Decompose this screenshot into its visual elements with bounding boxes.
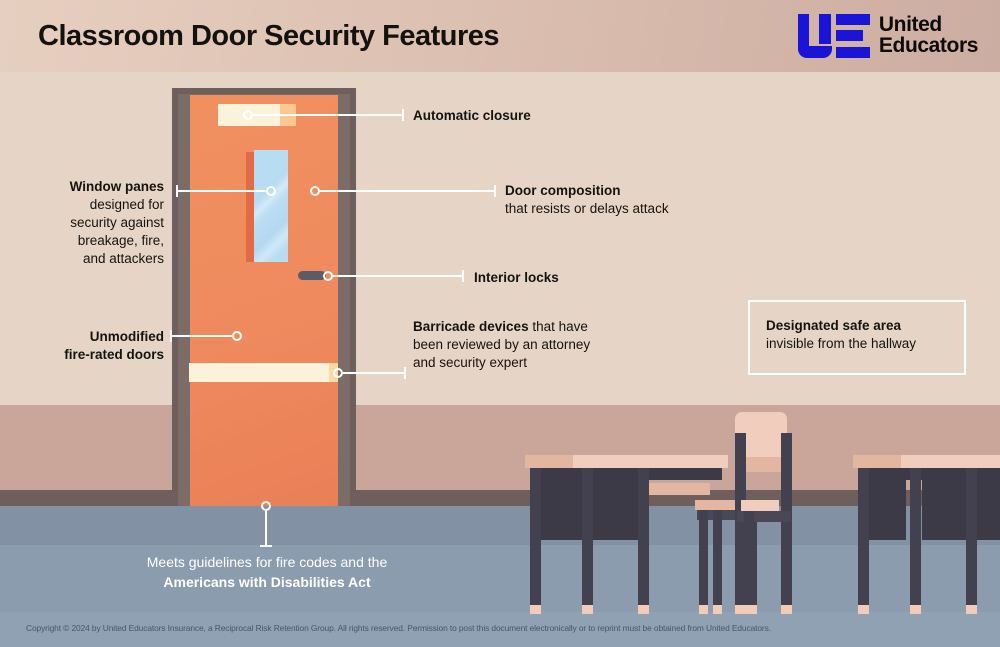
designated-safe-area-body: invisible from the hallway <box>766 336 916 351</box>
desk-left-leg-1 <box>530 468 541 605</box>
floor-note-line-2: Americans with Disabilities Act <box>163 574 370 590</box>
floor-note-line-1: Meets guidelines for fire codes and the <box>147 554 387 570</box>
chair-main-foot-3 <box>781 605 792 614</box>
logo-letter-e <box>836 14 870 58</box>
callout-barricade-devices-line-3: and security expert <box>413 355 527 370</box>
desk-right-leg-1 <box>858 468 869 605</box>
window-pane <box>254 150 288 262</box>
callout-unmodified-doors-line-2: fire-rated doors <box>64 347 164 362</box>
desk-right-foot-2 <box>910 605 921 614</box>
desk-left-foot-3 <box>638 605 649 614</box>
callout-window-panes-line-3: breakage, fire, <box>78 233 164 248</box>
desk-left-top <box>573 455 728 468</box>
callout-door-composition-body: that resists or delays attack <box>505 201 669 216</box>
desk-right-foot-3 <box>966 605 977 614</box>
logo-letter-u-base <box>798 46 832 58</box>
leader-line-floor-note <box>265 511 267 546</box>
chair-small-leg-1 <box>699 510 708 605</box>
desk-right-top-edge <box>853 455 901 468</box>
leader-line-barricade <box>343 372 405 374</box>
callout-barricade-devices-line-2: been reviewed by an attorney <box>413 337 590 352</box>
callout-window-panes-title: Window panes <box>70 179 164 194</box>
designated-safe-area-text: Designated safe area invisible from the … <box>766 317 916 353</box>
desk-right-apron <box>858 468 1000 480</box>
callout-interior-locks: Interior locks <box>474 269 559 287</box>
desk-right-panel <box>868 480 906 540</box>
chair-small-seat-edge <box>695 500 739 510</box>
leader-line-window-panes <box>178 190 268 192</box>
leader-line-automatic-closure <box>253 114 403 116</box>
chair-small-foot-2 <box>713 605 722 614</box>
leader-dot-interior-locks <box>323 271 333 281</box>
leader-cap-window-panes <box>176 185 178 197</box>
logo-wordmark-line-1: United <box>879 15 978 36</box>
header-bar: Classroom Door Security Features United … <box>0 0 1000 72</box>
desk-right-leg-3 <box>966 468 977 605</box>
callout-unmodified-doors-line-1: Unmodified <box>90 329 164 344</box>
chair-small-foot-1 <box>699 605 708 614</box>
leader-line-interior-locks <box>333 275 463 277</box>
desk-left-panel-2 <box>592 480 642 540</box>
copyright-notice: Copyright © 2024 by United Educators Ins… <box>26 623 771 633</box>
desk-left-foot-1 <box>530 605 541 614</box>
callout-window-panes-line-2: security against <box>70 215 164 230</box>
callout-window-panes-line-1: designed for <box>90 197 164 212</box>
infographic-canvas: Automatic closure Window panes designed … <box>0 0 1000 647</box>
floor-note: Meets guidelines for fire codes and the … <box>86 553 448 593</box>
leader-cap-automatic-closure <box>402 109 404 121</box>
desk-left-apron <box>530 468 722 480</box>
callout-barricade-devices: Barricade devices that have been reviewe… <box>413 318 590 372</box>
interior-lock-handle <box>298 271 326 280</box>
leader-dot-barricade <box>333 368 343 378</box>
leader-cap-door-composition <box>494 185 496 197</box>
page-title: Classroom Door Security Features <box>38 20 499 53</box>
leader-cap-interior-locks <box>462 270 464 282</box>
window-pane-edge <box>246 152 254 262</box>
callout-interior-locks-title: Interior locks <box>474 270 559 285</box>
desk-left-shelf <box>648 483 710 495</box>
callout-window-panes-line-4: and attackers <box>83 251 164 266</box>
callout-window-panes: Window panes designed for security again… <box>0 178 164 268</box>
desk-left-top-edge <box>525 455 573 468</box>
designated-safe-area-box: Designated safe area invisible from the … <box>748 300 966 375</box>
leader-dot-door-composition <box>310 186 320 196</box>
leader-cap-floor-note <box>260 545 272 547</box>
desk-left-leg-2 <box>582 468 593 605</box>
callout-barricade-devices-title: Barricade devices <box>413 319 529 334</box>
leader-line-door-composition <box>320 190 495 192</box>
desk-left-leg-3 <box>638 468 649 605</box>
leader-cap-barricade <box>404 367 406 379</box>
chair-main-seat <box>741 500 779 511</box>
desk-right-foot-1 <box>858 605 869 614</box>
desk-right-panel-2 <box>922 480 1000 540</box>
leader-dot-automatic-closure <box>243 110 253 120</box>
logo-wordmark: United Educators <box>879 15 978 56</box>
callout-unmodified-doors: Unmodified fire-rated doors <box>0 328 164 364</box>
desk-left-foot-2 <box>582 605 593 614</box>
chair-small-leg-2 <box>713 510 722 605</box>
callout-automatic-closure: Automatic closure <box>413 107 531 125</box>
callout-door-composition-title: Door composition <box>505 183 621 198</box>
desk-right-leg-2 <box>910 468 921 605</box>
chair-main-leg-front-left <box>744 511 754 605</box>
united-educators-logo: United Educators <box>798 13 978 59</box>
desk-right-top <box>901 455 1000 468</box>
callout-barricade-devices-line-1: that have <box>529 319 588 334</box>
chair-main-foot-2 <box>744 605 754 614</box>
logo-letter-u <box>798 14 832 58</box>
leader-dot-floor-note <box>261 501 271 511</box>
callout-automatic-closure-title: Automatic closure <box>413 108 531 123</box>
designated-safe-area-title: Designated safe area <box>766 318 901 333</box>
barricade-device-bar <box>189 363 329 382</box>
ue-monogram-icon <box>798 14 870 58</box>
logo-wordmark-line-2: Educators <box>879 36 978 57</box>
callout-door-composition: Door composition that resists or delays … <box>505 182 669 218</box>
leader-cap-unmodified-doors <box>170 330 172 342</box>
leader-line-unmodified-doors <box>172 335 234 337</box>
